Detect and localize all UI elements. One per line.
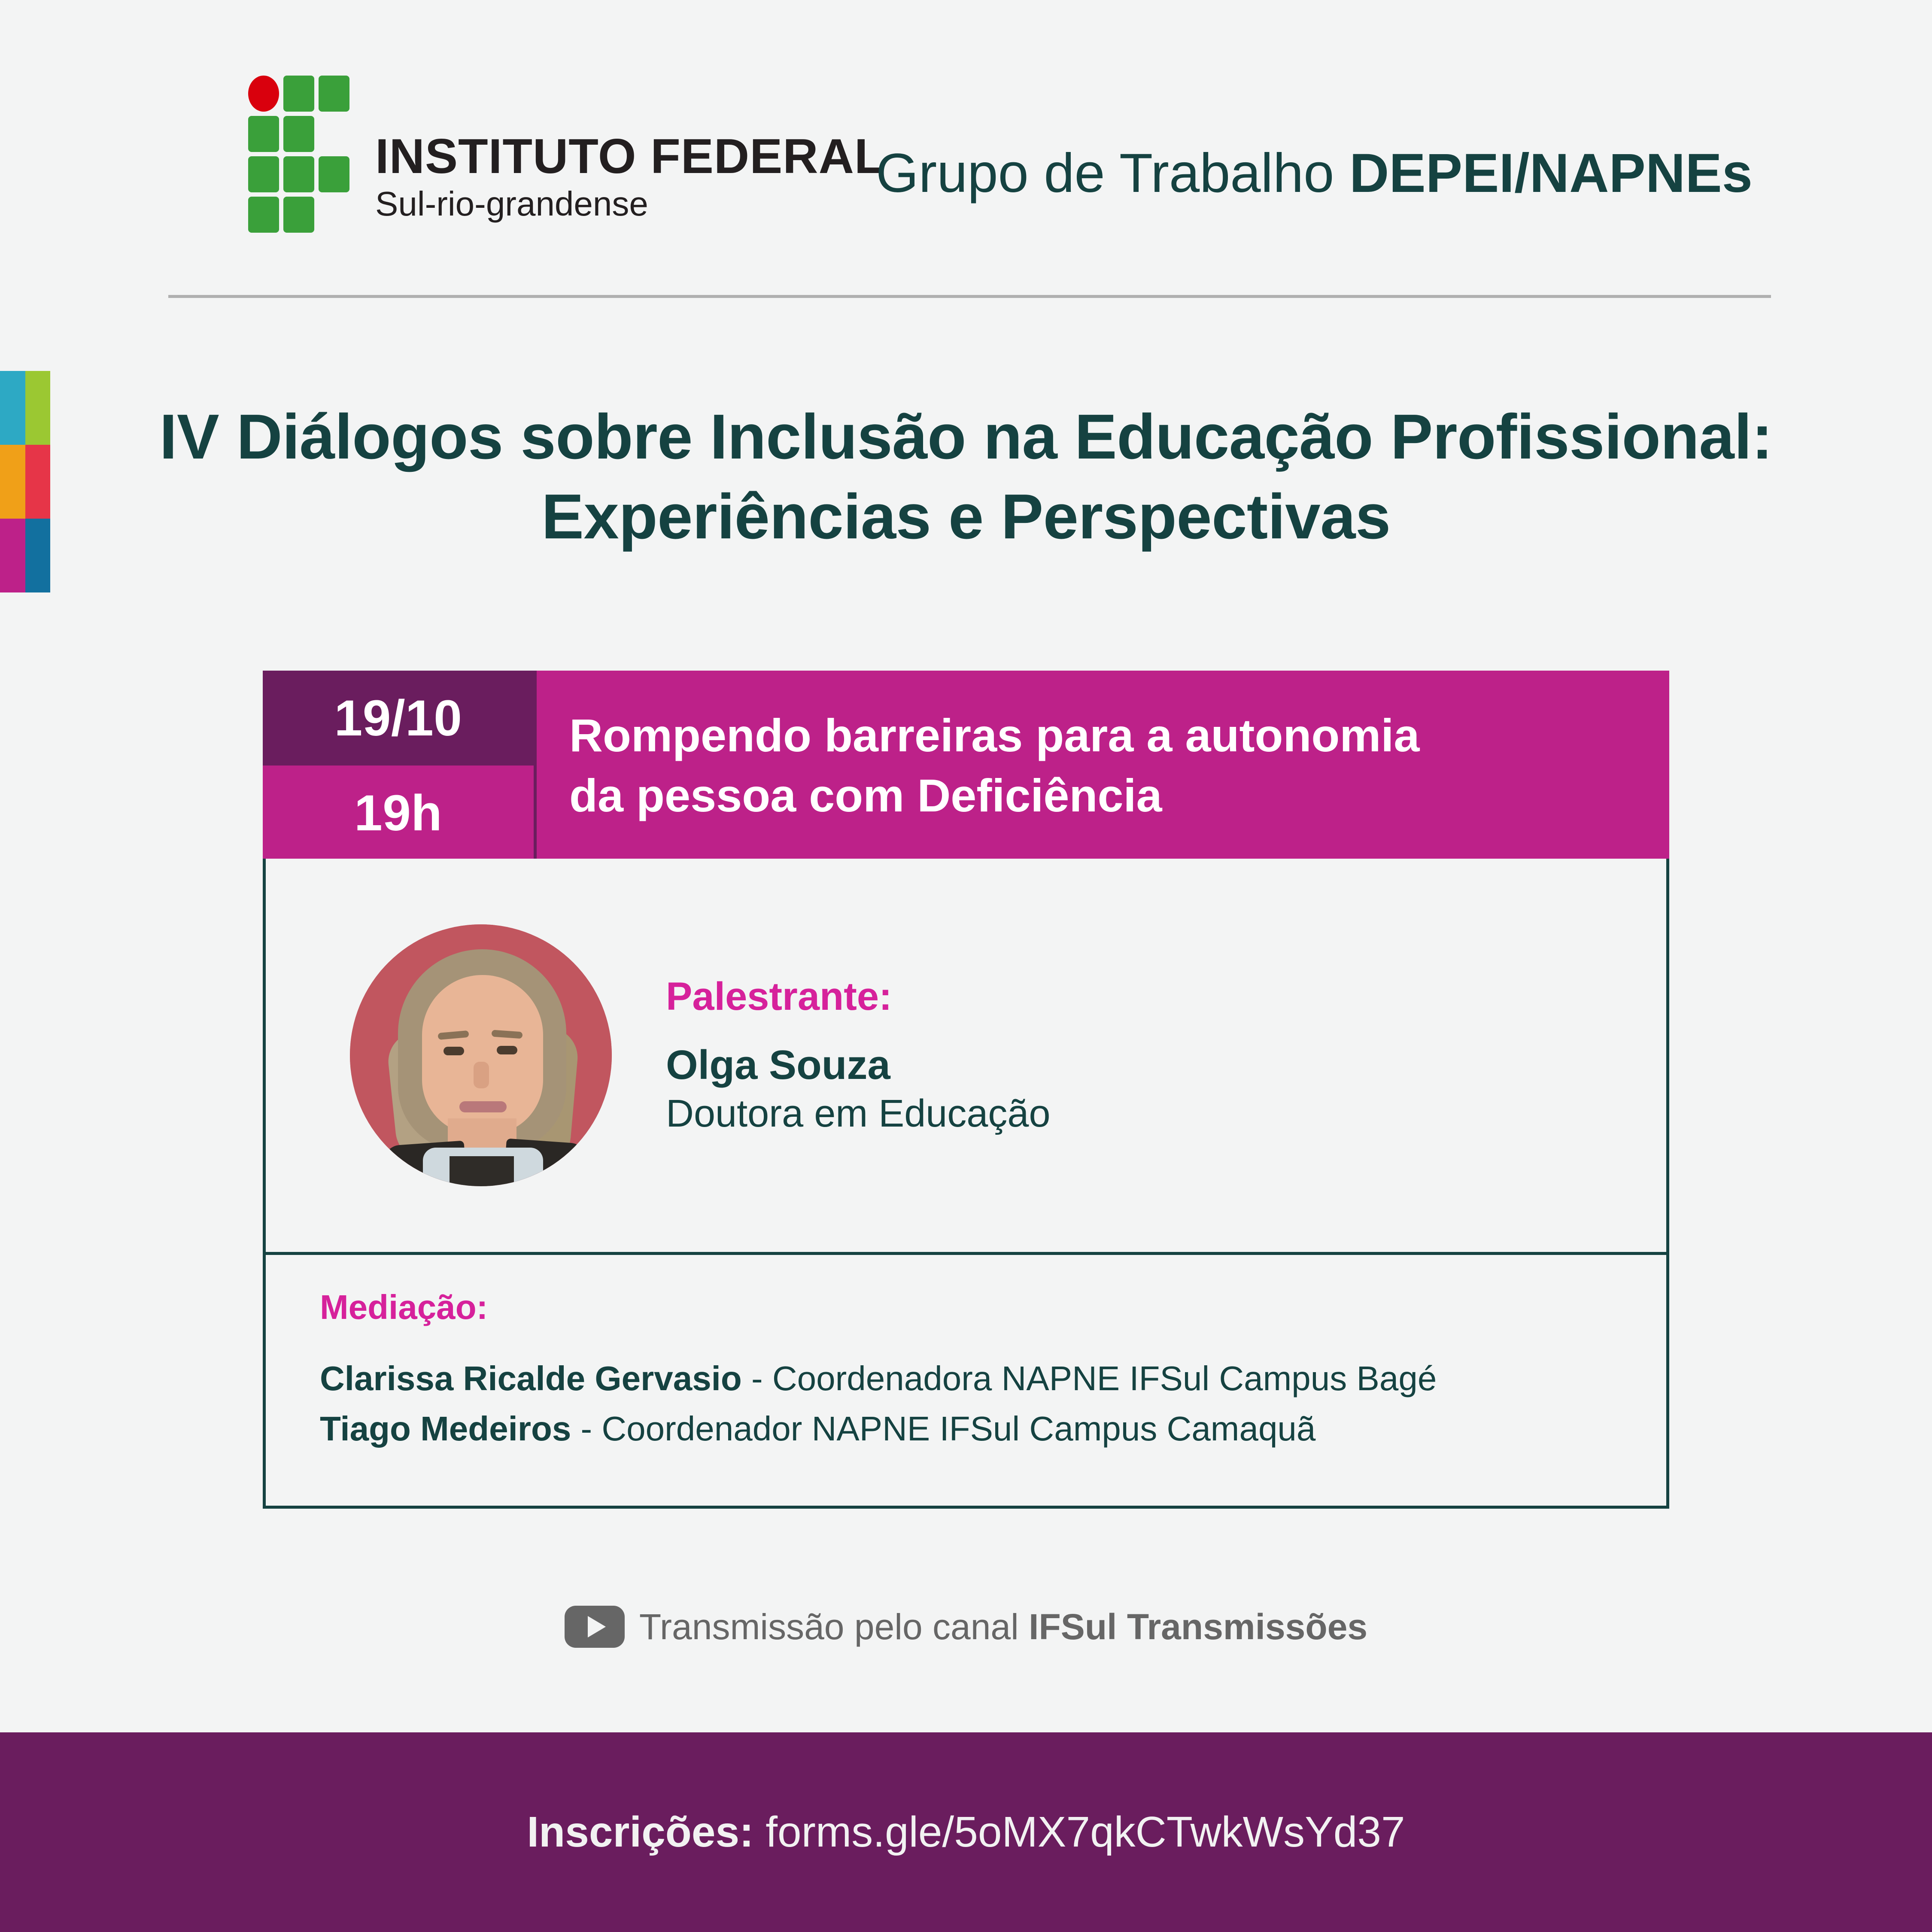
speaker-section: Palestrante: Olga Souza Doutora em Educa… bbox=[266, 859, 1666, 1255]
broadcast-text: Transmissão pelo canal IFSul Transmissõe… bbox=[639, 1606, 1367, 1648]
color-swatch-6 bbox=[25, 519, 51, 592]
event-date-block: 19/10 bbox=[263, 671, 534, 766]
institution-name-line1: INSTITUTO FEDERAL bbox=[375, 132, 885, 181]
mediator-row: Tiago Medeiros - Coordenador NAPNE IFSul… bbox=[320, 1404, 1666, 1454]
instituto-federal-logo-icon bbox=[246, 73, 358, 236]
color-swatch-4 bbox=[25, 445, 51, 519]
speaker-avatar bbox=[350, 924, 612, 1186]
event-card-body: Palestrante: Olga Souza Doutora em Educa… bbox=[263, 859, 1669, 1509]
event-topic: Rompendo barreiras para a autonomia da p… bbox=[537, 671, 1669, 860]
speaker-details: Palestrante: Olga Souza Doutora em Educa… bbox=[666, 974, 1051, 1137]
broadcast-channel: IFSul Transmissões bbox=[1029, 1607, 1367, 1647]
working-group-prefix: Grupo de Trabalho bbox=[876, 143, 1349, 204]
speaker-role: Doutora em Educação bbox=[666, 1091, 1051, 1136]
event-topic-line2: da pessoa com Deficiência bbox=[569, 766, 1420, 826]
page-title-line2: Experiências e Perspectivas bbox=[129, 477, 1803, 557]
broadcast-prefix: Transmissão pelo canal bbox=[639, 1607, 1029, 1647]
event-banner: 19/10 19h Rompendo barreiras para a auto… bbox=[263, 671, 1669, 860]
event-datetime-block: 19/10 19h bbox=[263, 671, 537, 860]
institution-name-line2: Sul-rio-grandense bbox=[375, 184, 885, 224]
registration-line: Inscrições: forms.gle/5oMX7qkCTwkWsYd37 bbox=[527, 1807, 1405, 1857]
speaker-name: Olga Souza bbox=[666, 1042, 1051, 1088]
event-time: 19h bbox=[354, 784, 442, 842]
mediation-label: Mediação: bbox=[320, 1288, 1666, 1327]
color-swatch-2 bbox=[25, 371, 51, 445]
mediator-role: - Coordenador NAPNE IFSul Campus Camaquã bbox=[571, 1410, 1315, 1448]
institution-brand: INSTITUTO FEDERAL Sul-rio-grandense bbox=[246, 73, 885, 236]
event-time-block: 19h bbox=[263, 766, 534, 860]
header-divider bbox=[168, 295, 1771, 298]
mediator-role: - Coordenadora NAPNE IFSul Campus Bagé bbox=[742, 1359, 1437, 1397]
event-card: 19/10 19h Rompendo barreiras para a auto… bbox=[263, 671, 1669, 1509]
working-group-name: DEPEI/NAPNEs bbox=[1349, 143, 1753, 204]
working-group-label: Grupo de Trabalho DEPEI/NAPNEs bbox=[876, 142, 1753, 205]
page-title: IV Diálogos sobre Inclusão na Educação P… bbox=[129, 397, 1803, 557]
registration-url[interactable]: forms.gle/5oMX7qkCTwkWsYd37 bbox=[766, 1808, 1405, 1856]
speaker-label: Palestrante: bbox=[666, 974, 1051, 1019]
mediation-section: Mediação: Clarissa Ricalde Gervasio - Co… bbox=[266, 1255, 1666, 1506]
color-swatch-1 bbox=[0, 371, 25, 445]
page-title-line1: IV Diálogos sobre Inclusão na Educação P… bbox=[129, 397, 1803, 477]
registration-footer: Inscrições: forms.gle/5oMX7qkCTwkWsYd37 bbox=[0, 1732, 1932, 1932]
decorative-color-grid bbox=[0, 371, 50, 592]
event-date: 19/10 bbox=[334, 689, 462, 747]
mediator-name: Tiago Medeiros bbox=[320, 1410, 571, 1448]
color-swatch-5 bbox=[0, 519, 25, 592]
youtube-icon[interactable] bbox=[565, 1606, 625, 1648]
mediator-row: Clarissa Ricalde Gervasio - Coordenadora… bbox=[320, 1354, 1666, 1404]
registration-label: Inscrições: bbox=[527, 1808, 766, 1856]
event-topic-line1: Rompendo barreiras para a autonomia bbox=[569, 705, 1420, 766]
broadcast-info: Transmissão pelo canal IFSul Transmissõe… bbox=[0, 1606, 1932, 1648]
mediator-name: Clarissa Ricalde Gervasio bbox=[320, 1359, 742, 1397]
color-swatch-3 bbox=[0, 445, 25, 519]
institution-wordmark: INSTITUTO FEDERAL Sul-rio-grandense bbox=[375, 132, 885, 236]
